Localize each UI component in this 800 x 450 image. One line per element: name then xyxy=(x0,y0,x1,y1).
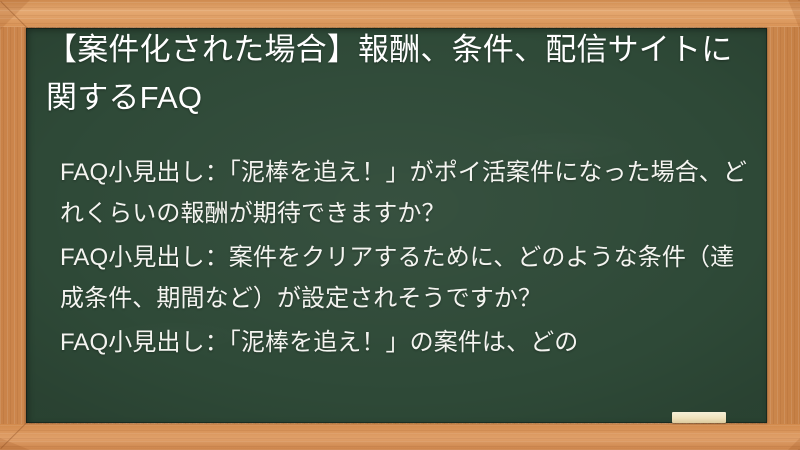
faq-item-2: FAQ小見出し：案件をクリアするために、どのような条件（達成条件、期間など）が設… xyxy=(60,237,750,319)
faq-list: FAQ小見出し：「泥棒を追え！」がポイ活案件になった場合、どれくらいの報酬が期待… xyxy=(60,152,750,366)
blackboard-slide: 【案件化された場合】報酬、条件、配信サイトに関するFAQ FAQ小見出し：「泥棒… xyxy=(0,0,800,450)
page-title: 【案件化された場合】報酬、条件、配信サイトに関するFAQ xyxy=(46,26,752,122)
faq-item-1: FAQ小見出し：「泥棒を追え！」がポイ活案件になった場合、どれくらいの報酬が期待… xyxy=(60,152,750,234)
faq-item-3: FAQ小見出し：「泥棒を追え！」の案件は、どの xyxy=(60,322,750,363)
wooden-frame-bottom xyxy=(0,424,800,450)
wooden-frame-top xyxy=(0,0,800,27)
chalk-eraser xyxy=(672,412,726,423)
